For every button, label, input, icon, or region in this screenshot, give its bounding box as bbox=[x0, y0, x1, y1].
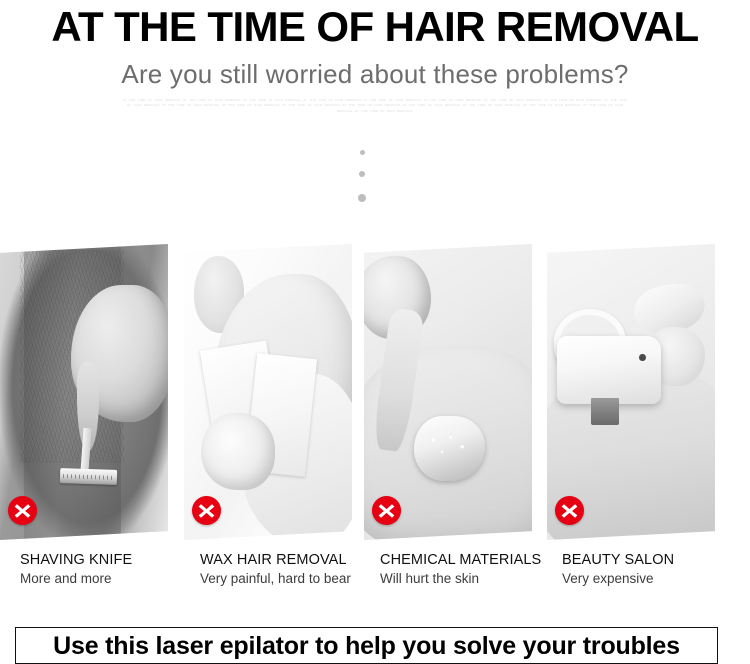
caption-chemical-materials: CHEMICAL MATERIALS Will hurt the skin bbox=[380, 552, 570, 588]
caption-title: CHEMICAL MATERIALS bbox=[380, 552, 570, 569]
decorative-microtext: AT THE TIME OF HAIR REMOVAL AT THE TIME … bbox=[0, 98, 750, 116]
x-mark-icon bbox=[372, 496, 401, 525]
caption-title: BEAUTY SALON bbox=[562, 552, 750, 569]
caption-beauty-salon: BEAUTY SALON Very expensive bbox=[562, 552, 750, 588]
bottom-banner: Use this laser epilator to help you solv… bbox=[15, 627, 718, 664]
dot-icon bbox=[359, 171, 365, 177]
bottom-banner-text: Use this laser epilator to help you solv… bbox=[16, 628, 717, 664]
page-header: AT THE TIME OF HAIR REMOVAL Are you stil… bbox=[0, 0, 750, 116]
x-mark-icon bbox=[192, 496, 221, 525]
x-mark-icon bbox=[555, 496, 584, 525]
page-title: AT THE TIME OF HAIR REMOVAL bbox=[0, 6, 750, 48]
caption-subtitle: Will hurt the skin bbox=[380, 571, 570, 587]
page-subtitle: Are you still worried about these proble… bbox=[0, 59, 750, 90]
caption-title: WAX HAIR REMOVAL bbox=[200, 552, 390, 569]
caption-shaving-knife: SHAVING KNIFE More and more bbox=[20, 552, 210, 588]
dot-icon bbox=[358, 194, 366, 202]
problem-panel-row bbox=[0, 244, 750, 544]
caption-subtitle: Very painful, hard to bear bbox=[200, 571, 390, 587]
dot-icon bbox=[360, 150, 365, 155]
caption-wax-hair-removal: WAX HAIR REMOVAL Very painful, hard to b… bbox=[200, 552, 390, 588]
panel-captions: SHAVING KNIFE More and more WAX HAIR REM… bbox=[0, 552, 750, 598]
caption-subtitle: More and more bbox=[20, 571, 210, 587]
caption-title: SHAVING KNIFE bbox=[20, 552, 210, 569]
x-mark-icon bbox=[8, 496, 37, 525]
ellipsis-dots bbox=[0, 146, 750, 208]
caption-subtitle: Very expensive bbox=[562, 571, 750, 587]
